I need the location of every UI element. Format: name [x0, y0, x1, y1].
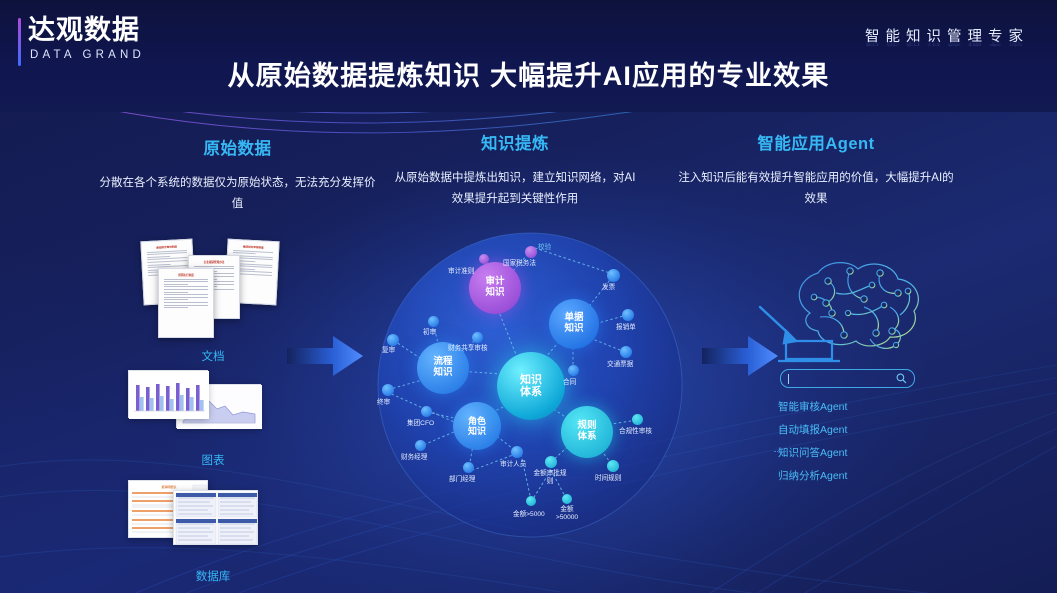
svg-text:报销明细表: 报销明细表 — [161, 484, 176, 489]
graph-dot-reimbursement[interactable] — [622, 309, 634, 321]
graph-dot-time-rule[interactable] — [607, 460, 619, 472]
graph-label-reimbursement: 报销单 — [616, 324, 636, 332]
graph-node-audit-knowledge[interactable]: 审计知识 — [469, 262, 521, 314]
graph-node-knowledge-system[interactable]: 知识体系 — [497, 352, 565, 420]
database-thumbnail — [173, 490, 258, 545]
graph-label-amount-50000: 金额>50000 — [550, 506, 584, 521]
graph-dot-amount-approval-rule[interactable] — [545, 456, 557, 468]
graph-label-transport-ticket: 交通票据 — [607, 361, 633, 369]
search-input[interactable] — [780, 369, 915, 388]
graph-label-compliance-review: 合规性审核 — [619, 428, 652, 436]
column-body: 注入知识后能有效提升智能应用的价值，大幅提升AI的效果 — [676, 168, 956, 211]
page-title: 从原始数据提炼知识 大幅提升AI应用的专业效果 — [0, 54, 1057, 93]
graph-label-tax-law: 国家税务法 — [503, 260, 536, 268]
graph-dot-audit-standard[interactable] — [479, 254, 489, 264]
node-label: 规则体系 — [577, 421, 596, 442]
graph-label-re-review: 复审 — [382, 347, 395, 355]
column-raw-data: 原始数据 分散在各个系统的数据仅为原始状态，无法充分发挥价值 — [95, 135, 380, 216]
graph-label-dept-manager: 部门经理 — [449, 476, 475, 484]
arrow-sources-to-graph — [285, 330, 365, 387]
graph-dot-invoice[interactable] — [607, 269, 620, 282]
column-body: 分散在各个系统的数据仅为原始状态，无法充分发挥价值 — [95, 173, 380, 216]
graph-node-role-knowledge[interactable]: 角色知识 — [453, 402, 501, 450]
agent-list: 智能审核Agent 自动填报Agent 知识问答Agent 归纳分析Agent — [740, 399, 955, 483]
graph-dot-shared-finance-review[interactable] — [472, 332, 483, 343]
graph-label-amount-5000: 金额>5000 — [513, 511, 545, 519]
node-label: 单据知识 — [564, 313, 583, 334]
brand-name-cn: 达观数据 — [28, 16, 145, 46]
graph-dot-first-review[interactable] — [428, 316, 439, 327]
agent-item-smart-review[interactable]: 智能审核Agent — [778, 399, 955, 414]
graph-dot-re-review[interactable] — [387, 334, 399, 346]
agent-item-qa[interactable]: 知识问答Agent — [778, 445, 955, 460]
agent-panel: 智能审核Agent 自动填报Agent 知识问答Agent 归纳分析Agent — [740, 255, 955, 491]
source-label-database: 数据库 — [128, 568, 298, 584]
graph-label-amount-approval-rule: 金额审批规则 — [533, 470, 567, 485]
node-label: 流程知识 — [433, 357, 452, 378]
node-label: 审计知识 — [485, 277, 504, 298]
graph-dot-finance-manager[interactable] — [415, 440, 426, 451]
document-stack: 集团财务审核制度 集团财务审核制度 企业报销管理办法 预算执行制度 — [128, 238, 298, 343]
column-heading: 原始数据 — [95, 135, 380, 159]
graph-label-audit-standard: 审计准则 — [448, 268, 474, 276]
graph-dot-group-cfo[interactable] — [421, 406, 432, 417]
graph-label-first-review: 初审 — [423, 329, 436, 337]
graph-dot-amount-5000[interactable] — [526, 496, 536, 506]
graph-dot-dept-manager[interactable] — [463, 462, 474, 473]
graph-node-rule-system[interactable]: 规则体系 — [561, 406, 613, 458]
data-sources: 集团财务审核制度 集团财务审核制度 企业报销管理办法 预算执行制度 文档 — [128, 238, 298, 528]
search-icon[interactable] — [896, 373, 907, 384]
column-agent: 智能应用Agent 注入知识后能有效提升智能应用的价值，大幅提升AI的效果 — [676, 130, 956, 211]
graph-label-final-review: 终审 — [377, 399, 390, 407]
source-label-document: 文档 — [128, 348, 298, 364]
list-continuation-dots — [774, 451, 788, 452]
column-body: 从原始数据中提炼出知识，建立知识网络，对AI效果提升起到关键性作用 — [390, 168, 640, 211]
text-caret — [788, 374, 789, 384]
database-thumbnails: 报销明细表 — [128, 478, 298, 558]
graph-label-finance-manager: 财务经理 — [401, 454, 427, 462]
graph-dot-compliance-review[interactable] — [632, 414, 643, 425]
graph-dot-transport-ticket[interactable] — [620, 346, 632, 358]
graph-dot-tax-law[interactable] — [525, 246, 537, 258]
brain-network-icon — [740, 255, 955, 365]
graph-label-invoice: 发票 — [602, 284, 615, 292]
document-title: 预算执行制度 — [159, 273, 213, 277]
column-knowledge-extraction: 知识提炼 从原始数据中提炼出知识，建立知识网络，对AI效果提升起到关键性作用 — [390, 130, 640, 211]
graph-dot-final-review[interactable] — [382, 384, 394, 396]
graph-dot-amount-50000[interactable] — [562, 494, 572, 504]
graph-label-verification: 校验 — [538, 244, 551, 252]
agent-item-auto-fill[interactable]: 自动填报Agent — [778, 422, 955, 437]
tagline-reflection: 智能知识管理专家 — [865, 39, 1029, 48]
graph-node-document-knowledge[interactable]: 单据知识 — [549, 299, 599, 349]
node-label: 角色知识 — [468, 416, 486, 436]
graph-dot-auditor[interactable] — [511, 446, 523, 458]
column-heading: 知识提炼 — [390, 130, 640, 154]
column-heading: 智能应用Agent — [676, 130, 956, 154]
bar-chart-thumbnail — [128, 370, 208, 418]
graph-label-time-rule: 时间规则 — [595, 475, 621, 483]
document-title: 企业报销管理办法 — [189, 260, 239, 264]
graph-label-shared-finance-review: 财务共享审核 — [448, 345, 488, 353]
source-label-chart: 图表 — [128, 452, 298, 468]
document-thumbnail: 预算执行制度 — [158, 268, 214, 338]
graph-label-group-cfo: 集团CFO — [407, 420, 434, 428]
graph-label-auditor: 审计人员 — [500, 461, 526, 469]
knowledge-graph: 审计知识 单据知识 流程知识 角色知识 规则体系 知识体系 国家税务法 审计准则… — [345, 230, 715, 540]
graph-dot-contract[interactable] — [568, 365, 579, 376]
agent-item-analysis[interactable]: 归纳分析Agent — [778, 468, 955, 483]
graph-label-contract: 合同 — [563, 379, 576, 387]
node-label: 知识体系 — [520, 374, 542, 399]
chart-thumbnails — [128, 370, 298, 450]
